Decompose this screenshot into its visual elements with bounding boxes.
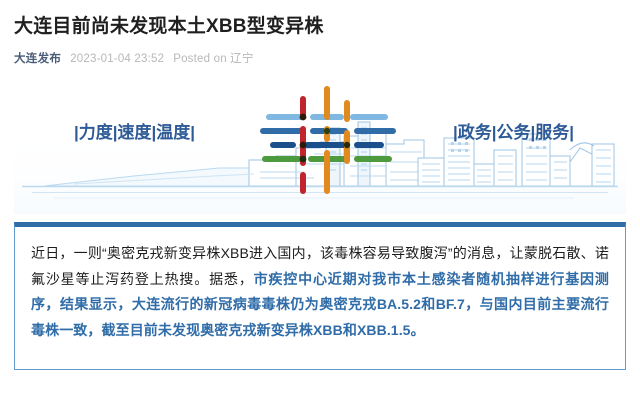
article-banner-image: |力度|速度|温度| |政务|公务|服务| (14, 76, 626, 214)
skyline-ground-line (22, 187, 618, 199)
byline: 大连发布 2023-01-04 23:52 Posted on 辽宁 (14, 51, 626, 67)
banner-graphic (14, 76, 626, 214)
banner-slogan-right: |政务|公务|服务| (453, 118, 574, 143)
article-content-box: 近日，一则“奥密克戎新变异株XBB进入国内，该毒株容易导致腹泻”的消息，让蒙脱石… (14, 222, 626, 370)
banner-slogan-left: |力度|速度|温度| (74, 118, 195, 143)
article-body: 近日，一则“奥密克戎新变异株XBB进入国内，该毒株容易导致腹泻”的消息，让蒙脱石… (31, 241, 609, 343)
article-page: 大连目前尚未发现本土XBB型变异株 大连发布 2023-01-04 23:52 … (0, 0, 640, 400)
byline-timestamp: 2023-01-04 23:52 (70, 51, 164, 67)
byline-posted-location: Posted on 辽宁 (173, 51, 253, 67)
byline-source[interactable]: 大连发布 (14, 51, 61, 67)
page-title: 大连目前尚未发现本土XBB型变异株 (14, 0, 626, 40)
